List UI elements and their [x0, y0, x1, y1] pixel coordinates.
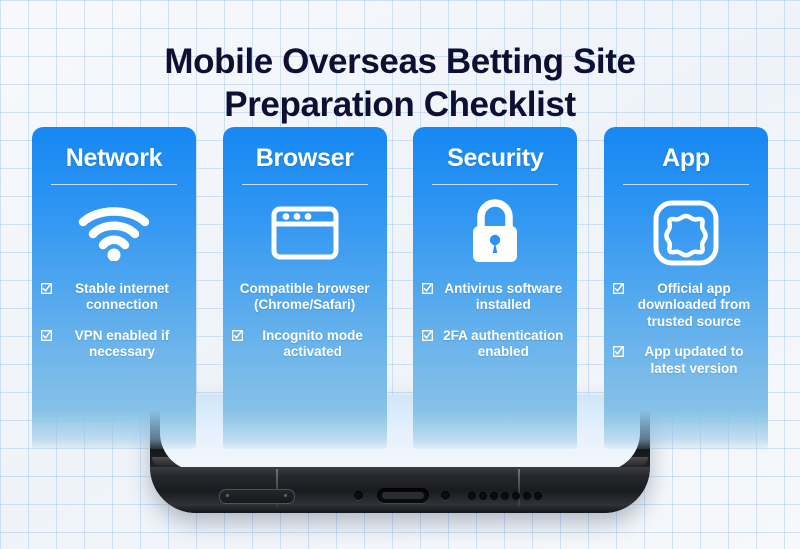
page-title-line-2: Preparation Checklist [0, 84, 800, 127]
checklist-item-label: Incognito mode activated [248, 328, 378, 361]
padlock-icon [413, 185, 577, 281]
checkbox-checked-icon[interactable] [41, 283, 52, 294]
checklist-item-label: Stable internet connection [57, 281, 187, 314]
app-badge-icon [604, 185, 768, 281]
usb-c-port [377, 488, 429, 503]
checklist-item-label: 2FA authentication enabled [438, 328, 568, 361]
checklist-item-label: Antivirus software installed [438, 281, 568, 314]
checklist-item[interactable]: Antivirus software installed [422, 281, 568, 314]
browser-window-icon [223, 185, 387, 281]
card-items-network: Stable internet connection VPN enabled i… [32, 281, 196, 361]
checklist-card-security[interactable]: Security Anti [413, 127, 577, 449]
card-items-browser: Compatible browser (Chrome/Safari) Incog… [223, 281, 387, 361]
page-title-line-1: Mobile Overseas Betting Site [0, 41, 800, 84]
checklist-item[interactable]: App updated to latest version [613, 344, 759, 377]
checkbox-checked-icon[interactable] [422, 330, 433, 341]
checklist-item[interactable]: 2FA authentication enabled [422, 328, 568, 361]
card-title-app: App [604, 144, 768, 173]
checklist-item[interactable]: Compatible browser (Chrome/Safari) [232, 281, 378, 314]
page-title: Mobile Overseas Betting Site Preparation… [0, 41, 800, 126]
checklist-item-label: App updated to latest version [629, 344, 759, 377]
checklist-item[interactable]: Official app downloaded from trusted sou… [613, 281, 759, 330]
antenna-seam-right [518, 469, 520, 507]
checklist-item[interactable]: Stable internet connection [41, 281, 187, 314]
checklist-card-row: Network Stabl [32, 127, 768, 449]
checkbox-checked-icon[interactable] [232, 330, 243, 341]
checklist-item[interactable]: Incognito mode activated [232, 328, 378, 361]
checklist-item-label: Compatible browser (Chrome/Safari) [240, 281, 370, 312]
microphone-hole-left [354, 491, 363, 500]
checklist-item[interactable]: VPN enabled if necessary [41, 328, 187, 361]
sim-tray-dot-right [284, 494, 287, 497]
checklist-card-app[interactable]: App Official app downloaded from tr [604, 127, 768, 449]
card-items-app: Official app downloaded from trusted sou… [604, 281, 768, 377]
card-title-security: Security [413, 144, 577, 173]
checklist-card-network[interactable]: Network Stabl [32, 127, 196, 449]
checkbox-checked-icon[interactable] [41, 330, 52, 341]
checkbox-checked-icon[interactable] [613, 283, 624, 294]
speaker-grille [468, 491, 542, 501]
card-title-network: Network [32, 144, 196, 173]
checklist-item-label: VPN enabled if necessary [57, 328, 187, 361]
checklist-item-label: Official app downloaded from trusted sou… [629, 281, 759, 330]
checkbox-checked-icon[interactable] [613, 346, 624, 357]
infographic-canvas: Mobile Overseas Betting Site Preparation… [0, 0, 800, 549]
checklist-card-browser[interactable]: Browser Compatible browser (Chrome/Safar… [223, 127, 387, 449]
sim-tray-dot-left [226, 494, 229, 497]
checkbox-checked-icon[interactable] [422, 283, 433, 294]
card-title-browser: Browser [223, 144, 387, 173]
microphone-hole-right [441, 491, 450, 500]
card-items-security: Antivirus software installed 2FA authent… [413, 281, 577, 361]
wifi-icon [32, 185, 196, 281]
